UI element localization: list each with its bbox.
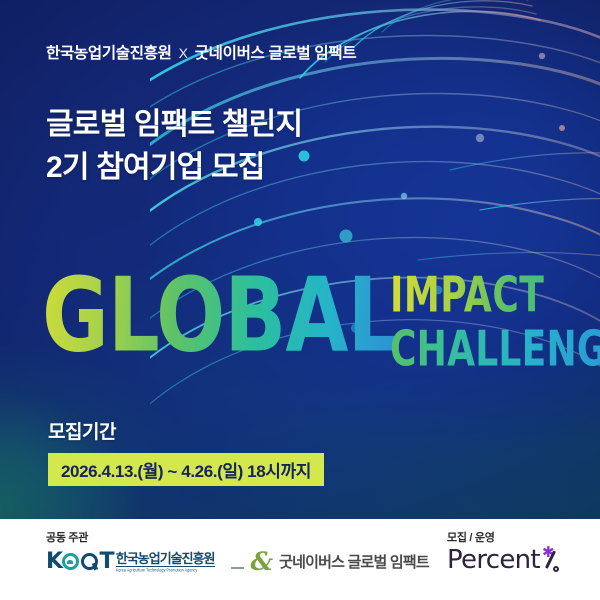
host-label: 공동 주관 — [46, 529, 88, 545]
logo-divider — [231, 567, 244, 569]
globe-graphic — [150, 0, 600, 480]
hero-panel: 한국농업기술진흥원X굿네이버스 글로벌 임팩트 글로벌 임팩트 챌린지 2기 참… — [0, 0, 600, 519]
poster-canvas: 한국농업기술진흥원X굿네이버스 글로벌 임팩트 글로벌 임팩트 챌린지 2기 참… — [0, 0, 600, 600]
koat-letter-a-icon — [81, 553, 98, 570]
percent-symbol-icon: ✱ — [542, 547, 564, 571]
koat-name-kr: 한국농업기술진흥원 — [116, 552, 215, 567]
wordmark-global: GLOBAL — [42, 264, 398, 366]
good-neighbors-logo: & 굿네이버스 글로벌 임팩트 — [251, 549, 429, 574]
period-label: 모집기간 — [48, 417, 116, 444]
percent-name: Percent — [447, 547, 540, 573]
good-neighbors-name: 굿네이버스 글로벌 임팩트 — [279, 551, 429, 572]
percent-dot-icon — [553, 566, 560, 573]
partner-org-right: 굿네이버스 글로벌 임팩트 — [195, 45, 357, 62]
campaign-wordmark: GLOBAL IMPACT CHALLENGE — [0, 262, 600, 392]
koat-letter-k: K — [46, 551, 61, 573]
period-value-chip: 2026.4.13.(월) ~ 4.26.(일) 18시까지 — [48, 453, 324, 486]
koat-logo: K T 한국농업기술진흥원 Korea Agriculture Technolo… — [46, 551, 215, 573]
host-logo-row: K T 한국농업기술진흥원 Korea Agriculture Technolo… — [46, 549, 429, 574]
koat-name-en: Korea Agriculture Technology Promotion A… — [116, 569, 215, 573]
page-title: 글로벌 임팩트 챌린지 2기 참여기업 모집 — [46, 104, 302, 189]
partner-separator-x: X — [172, 45, 195, 61]
koat-wordmark: K T — [46, 551, 113, 573]
koat-letter-o-icon — [62, 553, 79, 570]
partner-eyebrow: 한국농업기술진흥원X굿네이버스 글로벌 임팩트 — [46, 41, 356, 63]
koat-letter-t: T — [99, 551, 112, 573]
operator-label: 모집 / 운영 — [447, 529, 495, 545]
footer-bar: 공동 주관 모집 / 운영 K T 한국농업기술진흥원 Korea Agricu… — [0, 519, 600, 600]
period-value: 2026.4.13.(월) ~ 4.26.(일) 18시까지 — [61, 457, 311, 482]
partner-org-left: 한국농업기술진흥원 — [46, 45, 172, 62]
good-neighbors-ampersand-icon: & — [251, 549, 274, 574]
wordmark-challenge: CHALLENGE — [390, 324, 600, 373]
percent-logo: Percent ✱ — [447, 547, 564, 573]
wordmark-impact: IMPACT — [390, 270, 544, 319]
koat-name-block: 한국농업기술진흥원 Korea Agriculture Technology P… — [116, 552, 215, 572]
headline-line-1: 글로벌 임팩트 챌린지 — [46, 108, 302, 141]
headline-line-2: 2기 참여기업 모집 — [46, 147, 302, 190]
